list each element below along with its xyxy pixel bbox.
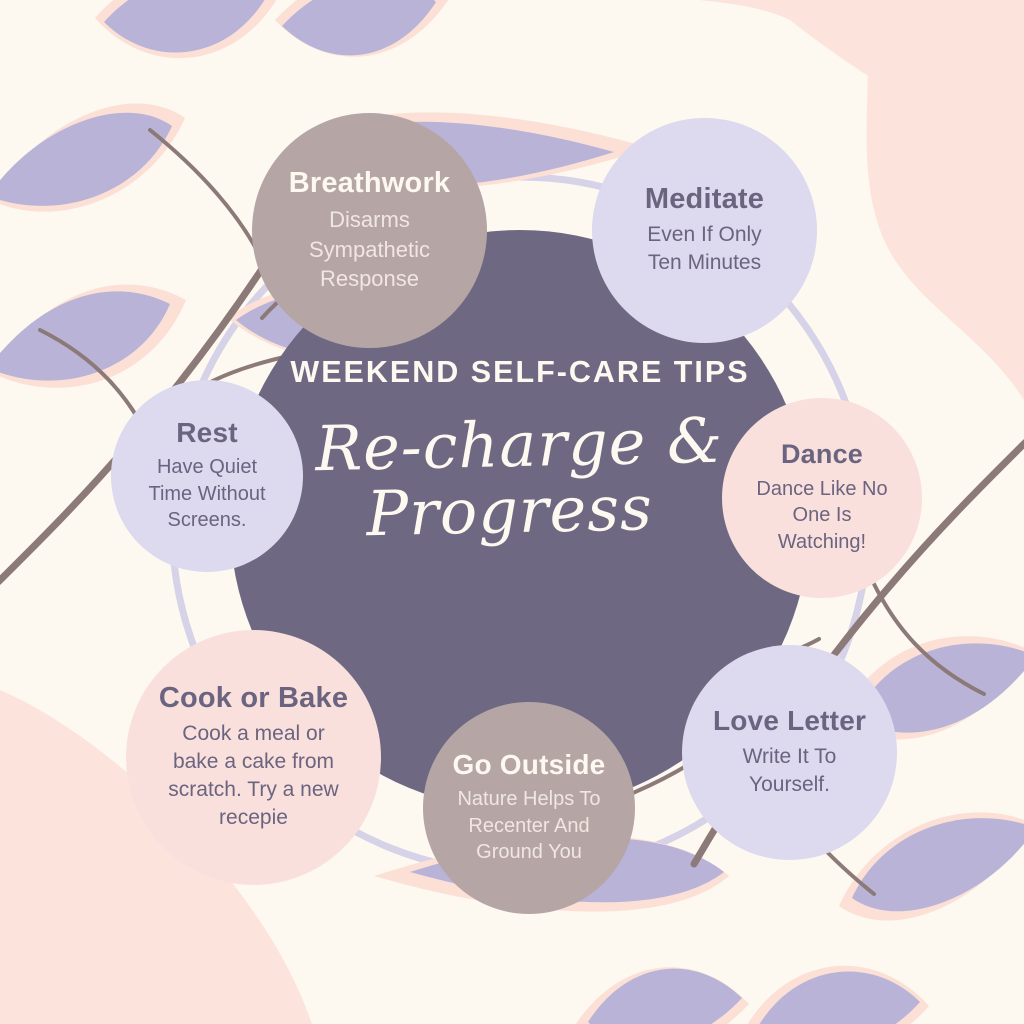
tip-circle-cook-or-bake[interactable]: Cook or Bake Cook a meal or bake a cake … xyxy=(126,630,381,885)
tip-subtitle-breathwork: Disarms Sympathetic Response xyxy=(295,205,445,293)
tip-title-go-outside: Go Outside xyxy=(453,750,606,779)
tip-subtitle-cook-or-bake: Cook a meal or bake a cake from scratch.… xyxy=(164,720,344,832)
tip-circle-love-letter[interactable]: Love Letter Write It To Yourself. xyxy=(682,645,897,860)
tip-circle-go-outside[interactable]: Go Outside Nature Helps To Recenter And … xyxy=(423,702,635,914)
tip-circle-meditate[interactable]: Meditate Even If Only Ten Minutes xyxy=(592,118,817,343)
tip-circle-rest[interactable]: Rest Have Quiet Time Without Screens. xyxy=(111,380,303,572)
tip-circle-dance[interactable]: Dance Dance Like No One Is Watching! xyxy=(722,398,922,598)
page-title-line-2: Progress xyxy=(294,473,725,548)
tip-title-dance: Dance xyxy=(781,440,863,468)
tip-circle-breathwork[interactable]: Breathwork Disarms Sympathetic Response xyxy=(252,113,487,348)
poster-canvas: WEEKEND SELF-CARE TIPS Re-charge & Progr… xyxy=(0,0,1024,1024)
page-title: Re-charge & Progress xyxy=(315,408,726,548)
tip-subtitle-rest: Have Quiet Time Without Screens. xyxy=(140,454,275,534)
tip-subtitle-dance: Dance Like No One Is Watching! xyxy=(752,476,892,556)
tip-title-breathwork: Breathwork xyxy=(289,168,451,198)
tip-subtitle-go-outside: Nature Helps To Recenter And Ground You xyxy=(453,786,605,866)
tip-title-meditate: Meditate xyxy=(645,184,764,214)
tip-title-rest: Rest xyxy=(176,418,238,447)
tip-title-cook-or-bake: Cook or Bake xyxy=(159,683,348,713)
tip-title-love-letter: Love Letter xyxy=(713,706,866,735)
page-heading: WEEKEND SELF-CARE TIPS xyxy=(290,355,749,390)
tip-subtitle-love-letter: Write It To Yourself. xyxy=(725,743,855,799)
tip-subtitle-meditate: Even If Only Ten Minutes xyxy=(631,221,779,277)
